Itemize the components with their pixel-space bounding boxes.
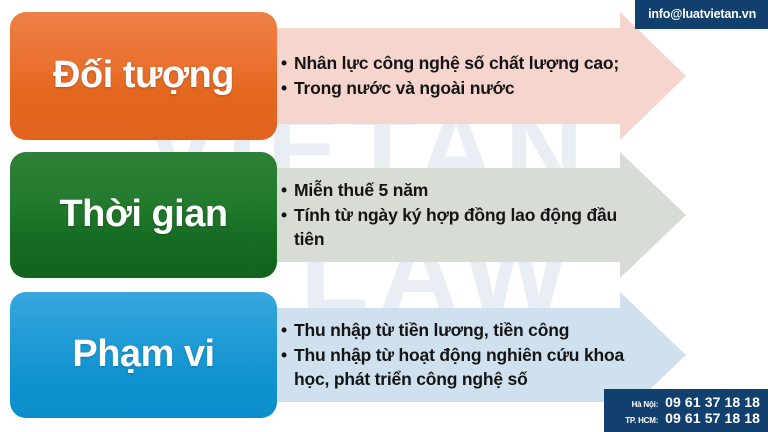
row-thoi-gian: Thời gian • Miễn thuế 5 năm • Tính từ ng… (0, 152, 768, 278)
phone-row-hcm: TP. HCM: 09 61 57 18 18 (614, 410, 760, 426)
label-text-doi-tuong: Đối tượng (53, 56, 234, 96)
label-box-pham-vi[interactable]: Phạm vi (10, 292, 277, 418)
bullet-list-1: • Nhân lực công nghệ số chất lượng cao; … (281, 12, 641, 140)
list-item-text: Miễn thuế 5 năm (294, 180, 428, 200)
list-item: • Miễn thuế 5 năm (281, 179, 637, 202)
list-item: • Tính từ ngày ký hợp đồng lao động đầu … (281, 204, 637, 250)
list-item-text: Thu nhập từ hoạt động nghiên cứu khoa họ… (294, 345, 624, 388)
bullet-list-3: • Thu nhập từ tiền lương, tiền công • Th… (281, 292, 641, 418)
bullet-list-2: • Miễn thuế 5 năm • Tính từ ngày ký hợp … (281, 152, 641, 278)
list-item-text: Tính từ ngày ký hợp đồng lao động đầu ti… (294, 205, 617, 248)
bullet-marker-icon: • (281, 179, 287, 202)
bullet-marker-icon: • (281, 319, 287, 342)
list-item: • Trong nước và ngoài nước (281, 77, 637, 100)
list-item-text: Trong nước và ngoài nước (294, 78, 514, 98)
phone-label-hcm: TP. HCM: (614, 416, 665, 425)
phone-label-hanoi: Hà Nội: (614, 400, 665, 409)
bullet-marker-icon: • (281, 204, 287, 227)
label-text-pham-vi: Phạm vi (72, 335, 214, 375)
list-item-text: Thu nhập từ tiền lương, tiền công (294, 320, 569, 340)
infographic-canvas: VIETAN LAW Đối tượng • Nhân lực công ngh… (0, 0, 768, 432)
phone-number-hanoi: 09 61 37 18 18 (665, 394, 760, 410)
list-item: • Thu nhập từ hoạt động nghiên cứu khoa … (281, 344, 637, 390)
label-text-thoi-gian: Thời gian (59, 195, 227, 235)
list-item: • Thu nhập từ tiền lương, tiền công (281, 319, 637, 342)
phone-badge[interactable]: Hà Nội: 09 61 37 18 18 TP. HCM: 09 61 57… (604, 389, 768, 432)
list-item-text: Nhân lực công nghệ số chất lượng cao; (294, 53, 619, 73)
list-item: • Nhân lực công nghệ số chất lượng cao; (281, 52, 637, 75)
row-doi-tuong: Đối tượng • Nhân lực công nghệ số chất l… (0, 12, 768, 140)
phone-number-hcm: 09 61 57 18 18 (665, 410, 760, 426)
bullet-marker-icon: • (281, 77, 287, 100)
label-box-thoi-gian[interactable]: Thời gian (10, 152, 277, 278)
email-address: info@luatvietan.vn (648, 7, 756, 21)
email-badge[interactable]: info@luatvietan.vn (635, 0, 768, 29)
bullet-marker-icon: • (281, 344, 287, 367)
label-box-doi-tuong[interactable]: Đối tượng (10, 12, 277, 140)
phone-row-hanoi: Hà Nội: 09 61 37 18 18 (614, 394, 760, 410)
bullet-marker-icon: • (281, 52, 287, 75)
